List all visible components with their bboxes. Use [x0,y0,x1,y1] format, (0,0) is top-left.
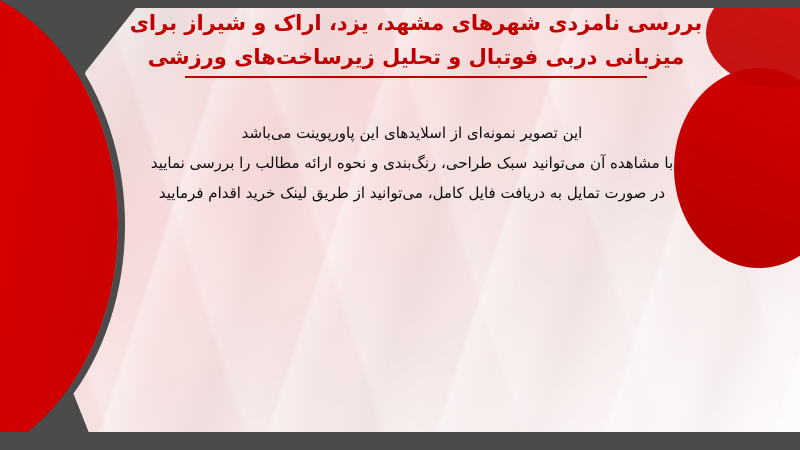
slide-title-line-2: میزبانی دربی فوتبال و تحلیل زیرساخت‌های … [96,40,736,74]
slide-body-line-3: در صورت تمایل به دریافت فایل کامل، می‌تو… [82,178,742,208]
slide-body-line-1: این تصویر نمونه‌ای از اسلایدهای این پاور… [82,118,742,148]
slide-canvas: بررسی نامزدی شهرهای مشهد، یزد، اراک و شی… [0,0,800,450]
slide-title-line-1: بررسی نامزدی شهرهای مشهد، یزد، اراک و شی… [96,6,736,40]
slide-title-underline [185,76,647,78]
slide-body-text: این تصویر نمونه‌ای از اسلایدهای این پاور… [82,118,742,208]
slide-bottom-band [0,432,800,450]
slide-title: بررسی نامزدی شهرهای مشهد، یزد، اراک و شی… [96,6,736,78]
slide-body-line-2: با مشاهده آن می‌توانید سبک طراحی، رنگ‌بن… [82,148,742,178]
